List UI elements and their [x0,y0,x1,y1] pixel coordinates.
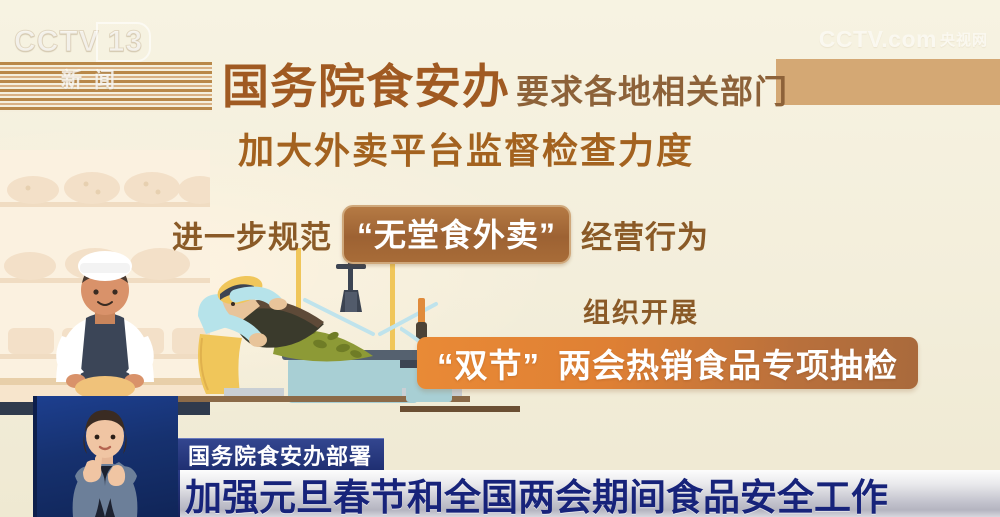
inset-left-edge [33,396,37,517]
watermark-latin: CCTV.com [819,26,937,53]
channel-name: 新闻 [14,64,164,94]
cctv-logo-text: CCTV13 [14,22,164,62]
highlight-bar-special-inspection: “双节” 两会热销食品专项抽检 [417,337,918,389]
headline-line-1: 国务院食安办 要求各地相关部门 [222,48,788,117]
headline-line-3-prefix: 进一步规范 [172,212,332,257]
interpreter-figure [33,396,178,517]
highlight-bar-part-1: “双节” [437,339,540,387]
headline-line-4: 组织开展 [583,291,699,330]
channel-number: 13 [96,22,151,62]
cctv-com-watermark: CCTV.com 央视网 [819,26,988,53]
cctv-wordmark: CCTV [14,25,100,58]
tan-accent-block [776,59,1000,105]
lower-third-headline-text: 加强元旦春节和全国两会期间食品安全工作 [185,470,888,517]
lower-third-kicker: 国务院食安办部署 [178,438,384,470]
headline-line-3: 进一步规范 “无堂食外卖” 经营行为 [172,205,709,264]
sign-language-interpreter-inset [33,396,178,517]
lower-third-headline: 加强元旦春节和全国两会期间食品安全工作 [175,470,1000,517]
headline-emphasis: 国务院食安办 [222,48,510,117]
headline-line-2: 加大外卖平台监督检查力度 [238,122,694,174]
lower-third-kicker-text: 国务院食安办部署 [188,439,372,471]
channel-logo: CCTV13 新闻 [14,22,164,88]
highlight-bar-part-2: 两会热销食品专项抽检 [558,339,898,387]
highlight-chip-no-dinein: “无堂食外卖” [342,205,571,264]
broadcast-screenshot: CCTV13 新闻 CCTV.com 央视网 国务院食安办 要求各地相关部门 加… [0,0,1000,517]
headline-line-3-suffix: 经营行为 [581,212,709,257]
watermark-chinese: 央视网 [940,29,988,53]
headline-line-1-rest: 要求各地相关部门 [516,65,788,113]
